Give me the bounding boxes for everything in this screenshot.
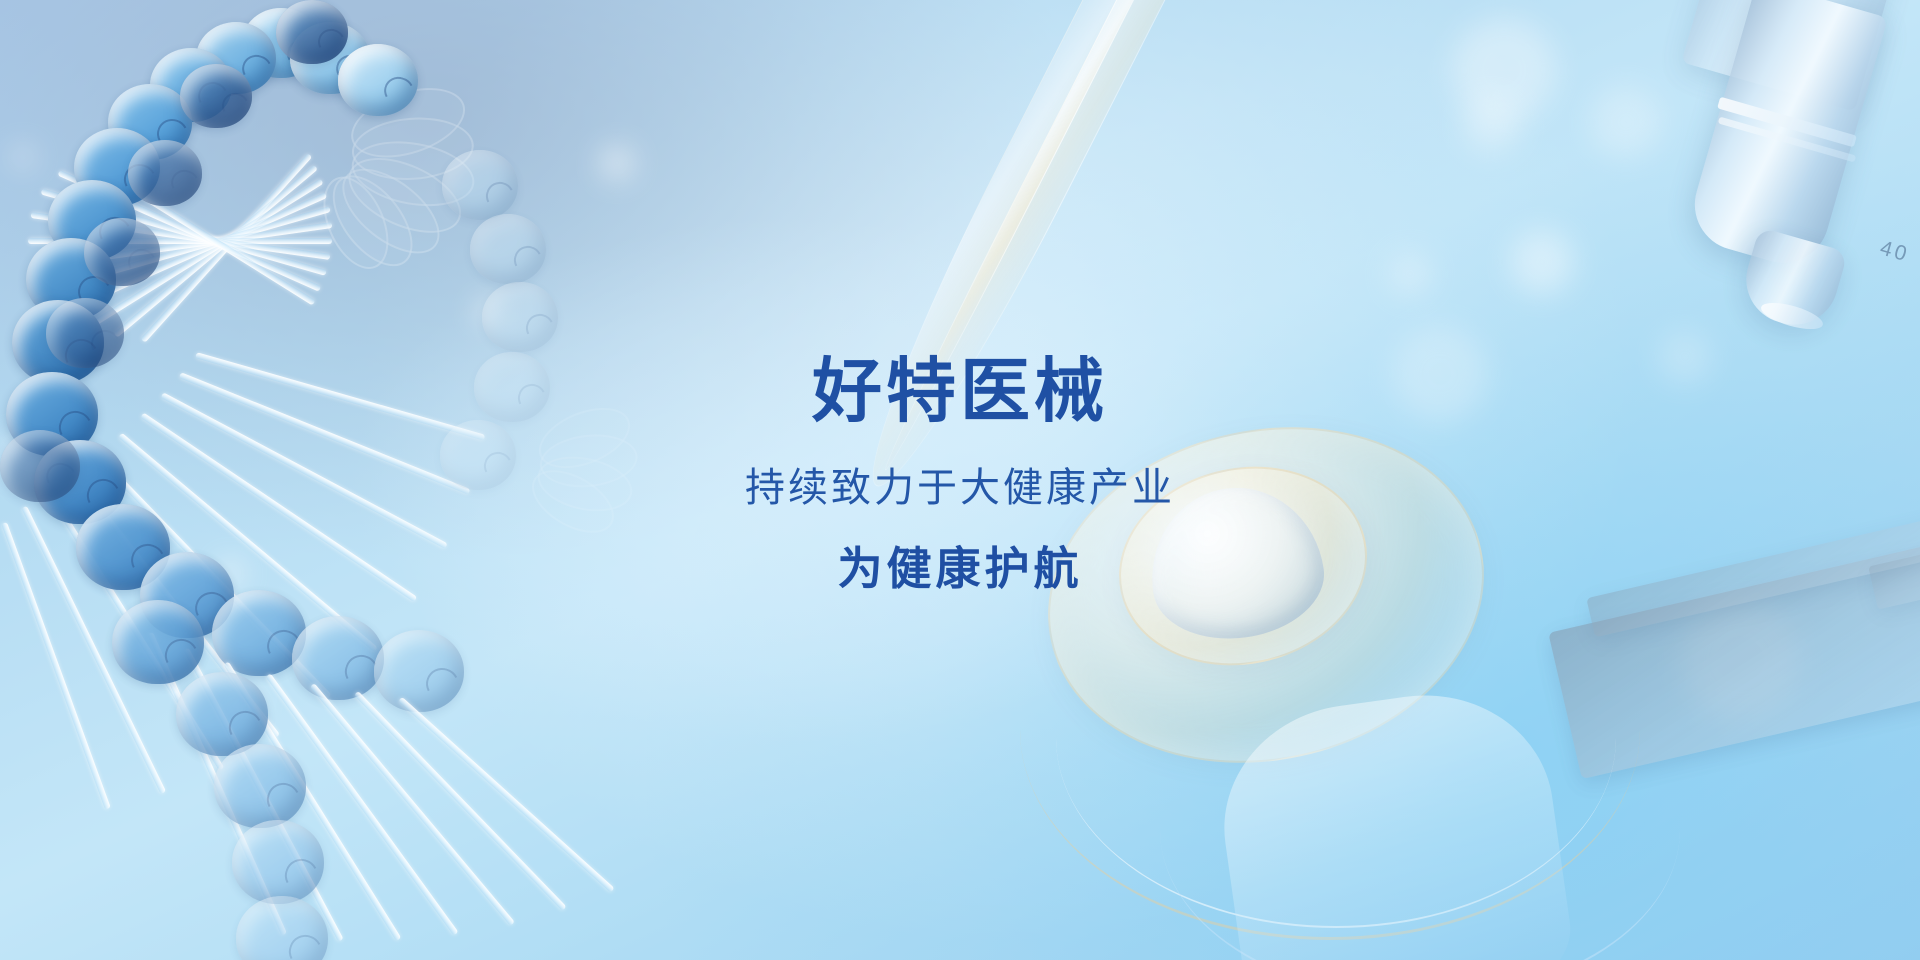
dna-bead [108,84,192,160]
dna-bead [214,744,306,828]
dna-bead [112,600,204,684]
glass-swoosh [1056,548,1616,928]
dna-backbone-rod [398,697,615,893]
dna-backbone-rod [58,170,322,292]
dna-backbone-rod [183,648,343,942]
dna-bead-back [276,0,348,64]
bokeh-circle [1388,252,1432,296]
dna-backbone-rod [310,683,515,926]
dna-backbone-rod [147,632,287,936]
dna-backbone-rod [113,165,318,338]
dna-backbone-rod [140,153,312,343]
dna-bead-ghost [470,214,546,284]
microscope-objective-tip [1736,227,1848,335]
microscope-objective-ring [1717,97,1857,148]
dna-backbone-rod [41,189,327,276]
beaker-body [1209,678,1578,960]
page-title: 好特医械 [0,352,1920,430]
dna-backbone-rod [223,661,401,941]
dna-bead [242,8,320,78]
dna-bead [74,128,160,206]
dna-bead [292,616,384,700]
dna-bead [290,22,370,94]
dna-bead-ghost [442,150,518,220]
hero-banner: 40 [0,0,1920,960]
dna-bead-back [128,140,202,206]
dna-backbone-rod [67,192,327,312]
dna-backbone-rod [90,178,324,327]
dna-backbone-rod [48,206,330,292]
bokeh-circle [1680,600,1800,720]
dna-backbone-rod [35,222,333,270]
bokeh-circle [236,688,260,712]
microscope-objective-ring [1718,117,1856,163]
dna-backbone-rod [82,156,316,305]
fan-blade [328,152,455,269]
fan-blade [342,75,473,170]
dna-backbone-rod [31,212,331,260]
microscope-magnification-label: 40 [1877,236,1912,267]
dna-bead [232,820,324,904]
dna-bead [176,672,268,756]
microscope-objective-barrel [1684,0,1888,274]
bokeh-circle [1452,18,1556,122]
dna-bead [338,44,418,116]
fan-blade [337,143,472,248]
dna-bead [48,180,136,260]
dna-bead [212,590,306,676]
dna-backbone-rod [266,673,459,935]
dna-backbone-rod [354,691,567,911]
microscope-lens-glass [1758,298,1825,335]
bokeh-circle [1510,230,1574,294]
bokeh-circle [1590,86,1662,158]
dna-bead-ghost [482,282,558,352]
dna-bead [150,48,232,122]
banner-subtitle: 持续致力于大健康产业 [0,464,1920,512]
dna-bead [236,896,328,960]
dna-bead-back [84,218,160,286]
dna-bead [374,630,464,712]
banner-copy: 好特医械 持续致力于大健康产业 为健康护航 [0,352,1920,596]
dna-bead [196,22,276,94]
fan-blade [347,132,480,215]
dna-bead-back [180,64,252,128]
fan-blade [350,114,476,184]
microscope-turret [1681,0,1898,112]
glass-swoosh [1160,660,1680,960]
bokeh-circle [475,298,501,324]
dna-bead [26,238,116,320]
bokeh-circle [12,146,34,168]
bokeh-circle [1462,96,1520,154]
bokeh-circle [600,146,634,180]
fan-blade [317,161,428,280]
fan-blade [310,167,401,279]
banner-tagline: 为健康护航 [0,542,1920,596]
dna-backbone-rod [28,238,332,244]
